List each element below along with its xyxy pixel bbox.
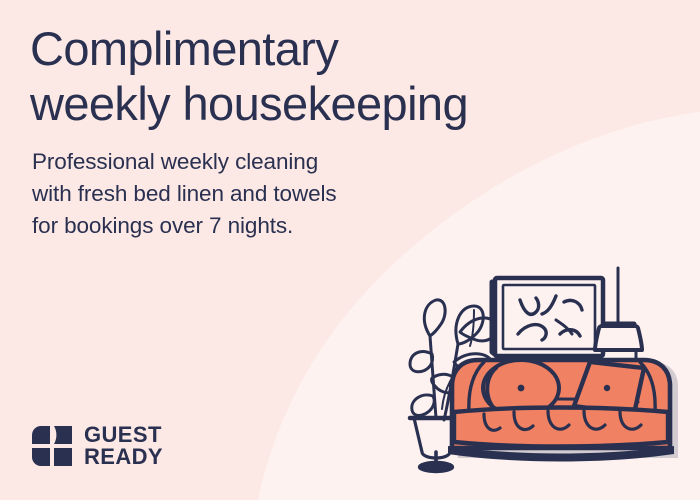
logo-wordmark: GUEST READY (84, 424, 163, 467)
guest-ready-mark-icon (31, 425, 73, 467)
page-subtitle: Professional weekly cleaning with fresh … (32, 146, 590, 242)
copy-block: Complimentary weekly housekeeping Profes… (30, 22, 590, 242)
logo-line-2: READY (84, 446, 163, 468)
brand-logo: GUEST READY (31, 424, 163, 467)
living-room-illustration (396, 262, 696, 500)
framed-artwork-icon (492, 278, 603, 358)
page-title: Complimentary weekly housekeeping (30, 22, 590, 132)
logo-line-1: GUEST (84, 424, 163, 446)
sofa-icon (448, 360, 678, 462)
promo-banner: Complimentary weekly housekeeping Profes… (0, 0, 700, 500)
